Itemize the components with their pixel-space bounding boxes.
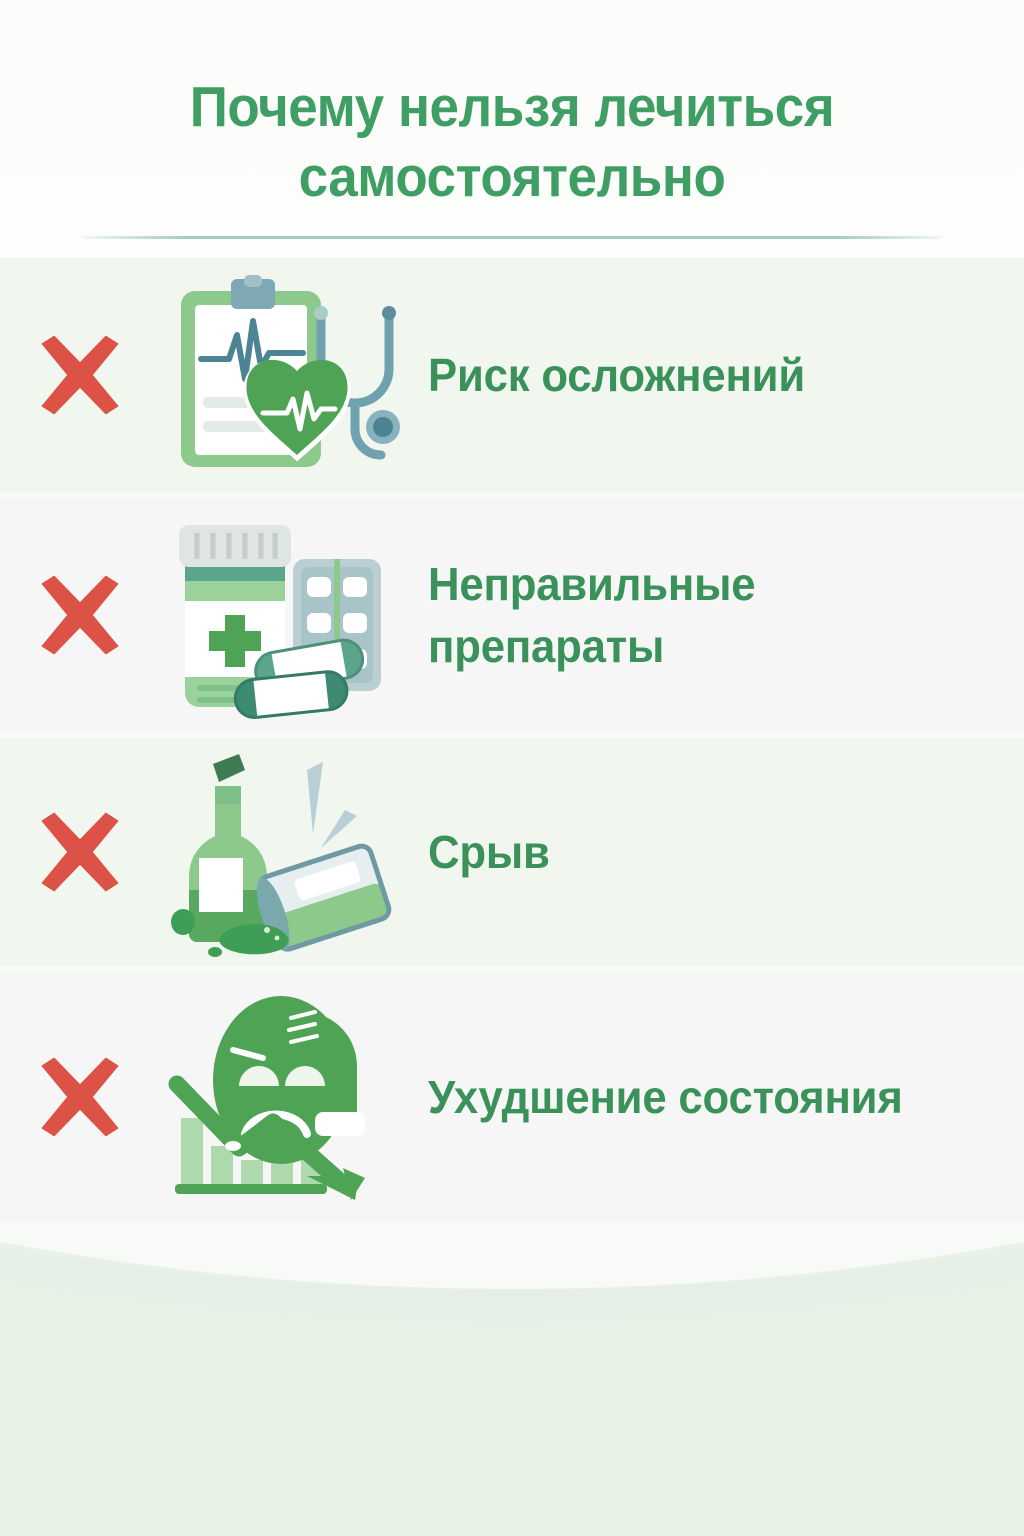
infographic-poster: Почему нельзя лечиться самостоятельно [0,0,1024,1536]
label-cell-4: Ухудшение состояния [410,1067,1024,1127]
content-card: Почему нельзя лечиться самостоятельно [0,0,1024,1330]
cross-mark-cell-3 [0,806,160,898]
row-label-3: Срыв [428,822,966,882]
icon-cell-2 [160,515,410,715]
clipboard-stethoscope-heart-icon [169,275,401,475]
label-cell-2: Неправильные препараты [410,553,1024,677]
bottle-spilled-glass-icon [169,752,401,952]
red-cross-icon [34,1051,126,1143]
row-label-2-line1: Неправильные [428,553,966,615]
bottom-wave-decoration [0,1180,1024,1536]
page-title: Почему нельзя лечиться самостоятельно [36,72,988,212]
cross-mark-cell-1 [0,329,160,421]
row-label-1: Риск осложнений [428,345,966,405]
icon-cell-1 [160,275,410,475]
sad-face-declining-chart-icon [167,988,403,1206]
red-cross-icon [34,806,126,898]
pill-bottle-blister-capsules-icon [169,515,401,715]
list-item-row-3[interactable]: Срыв [0,738,1024,966]
poster-header: Почему нельзя лечиться самостоятельно [0,0,1024,258]
label-cell-1: Риск осложнений [410,345,1024,405]
icon-cell-3 [160,752,410,952]
red-cross-icon [34,569,126,661]
list-item-row-1[interactable]: Риск осложнений [0,258,1024,492]
red-cross-icon [34,329,126,421]
row-label-4: Ухудшение состояния [428,1067,966,1127]
row-label-2-line2: препараты [428,615,966,677]
label-cell-3: Срыв [410,822,1024,882]
list-item-row-2[interactable]: Неправильные препараты [0,498,1024,732]
title-divider [82,236,942,239]
cross-mark-cell-4 [0,1051,160,1143]
cross-mark-cell-2 [0,569,160,661]
icon-cell-4 [160,988,410,1206]
